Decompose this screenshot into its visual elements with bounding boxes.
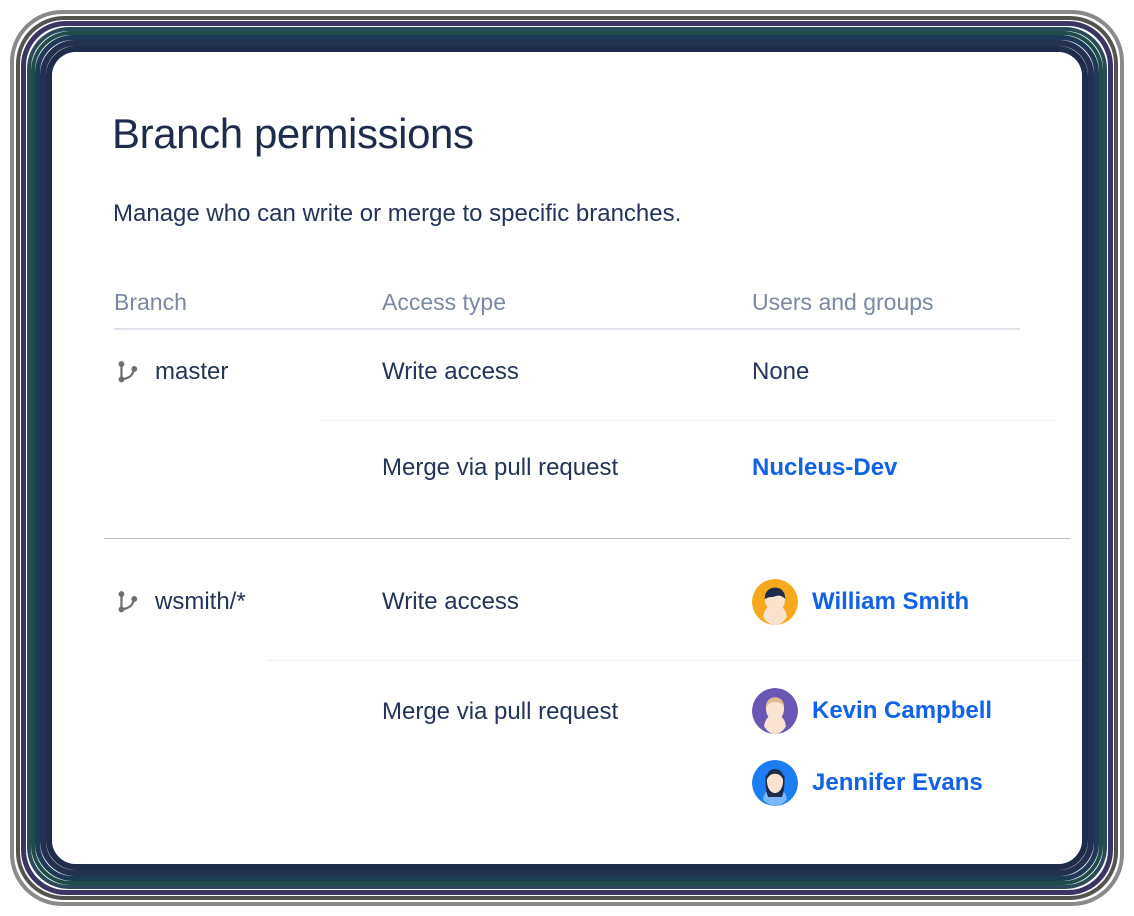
column-header-branch: Branch <box>114 289 382 316</box>
branch-name: master <box>155 358 228 386</box>
table-header-row: Branch Access type Users and groups <box>52 276 1082 328</box>
column-header-users-and-groups: Users and groups <box>752 289 1082 316</box>
user-value-none: None <box>752 358 809 386</box>
avatar-william-smith <box>752 579 798 625</box>
access-type-cell: Merge via pull request <box>382 420 752 502</box>
users-and-groups-cell: William Smith <box>752 562 1082 645</box>
table-row: wsmith/* Write access <box>52 562 1082 660</box>
row-divider <box>320 420 1056 421</box>
table-row: master Write access None <box>52 338 1082 420</box>
user-link-kevin-campbell[interactable]: Kevin Campbell <box>812 697 992 725</box>
branch-cell: master <box>114 338 382 406</box>
git-branch-icon <box>114 588 142 616</box>
git-branch-icon <box>114 358 142 386</box>
list-item: None <box>752 358 1082 386</box>
branch-cell: wsmith/* <box>114 562 382 636</box>
page-title: Branch permissions <box>112 110 474 158</box>
group-link-nucleus-dev[interactable]: Nucleus-Dev <box>752 454 897 482</box>
branch-group-wsmith: wsmith/* Write access <box>52 520 1082 850</box>
avatar-kevin-campbell <box>752 688 798 734</box>
users-and-groups-cell: Kevin Campbell Jennifer Evans <box>752 660 1082 826</box>
access-type-cell: Merge via pull request <box>382 660 752 746</box>
users-and-groups-cell: Nucleus-Dev <box>752 420 1082 502</box>
page-subtitle: Manage who can write or merge to specifi… <box>113 200 681 228</box>
branch-permissions-table: Branch Access type Users and groups <box>52 276 1082 850</box>
list-item[interactable]: Nucleus-Dev <box>752 454 1082 482</box>
column-header-access-type: Access type <box>382 289 752 316</box>
user-link-william-smith[interactable]: William Smith <box>812 588 969 616</box>
access-type-cell: Write access <box>382 338 752 406</box>
row-divider <box>268 660 1082 661</box>
table-row: Merge via pull request Kevin Campbell <box>52 660 1082 850</box>
list-item[interactable]: Jennifer Evans <box>752 760 1082 806</box>
user-link-jennifer-evans[interactable]: Jennifer Evans <box>812 769 983 797</box>
access-type-cell: Write access <box>382 562 752 636</box>
branch-permissions-card: Branch permissions Manage who can write … <box>52 52 1082 864</box>
table-row: Merge via pull request Nucleus-Dev <box>52 420 1082 520</box>
avatar-jennifer-evans <box>752 760 798 806</box>
branch-name: wsmith/* <box>155 588 246 616</box>
users-and-groups-cell: None <box>752 338 1082 406</box>
list-item[interactable]: William Smith <box>752 579 1082 625</box>
list-item[interactable]: Kevin Campbell <box>752 688 1082 734</box>
branch-cell-empty <box>114 420 382 460</box>
branch-cell-empty <box>114 660 382 700</box>
branch-group-master: master Write access None Merge via pull … <box>52 328 1082 520</box>
branch-group-divider <box>104 538 1070 539</box>
